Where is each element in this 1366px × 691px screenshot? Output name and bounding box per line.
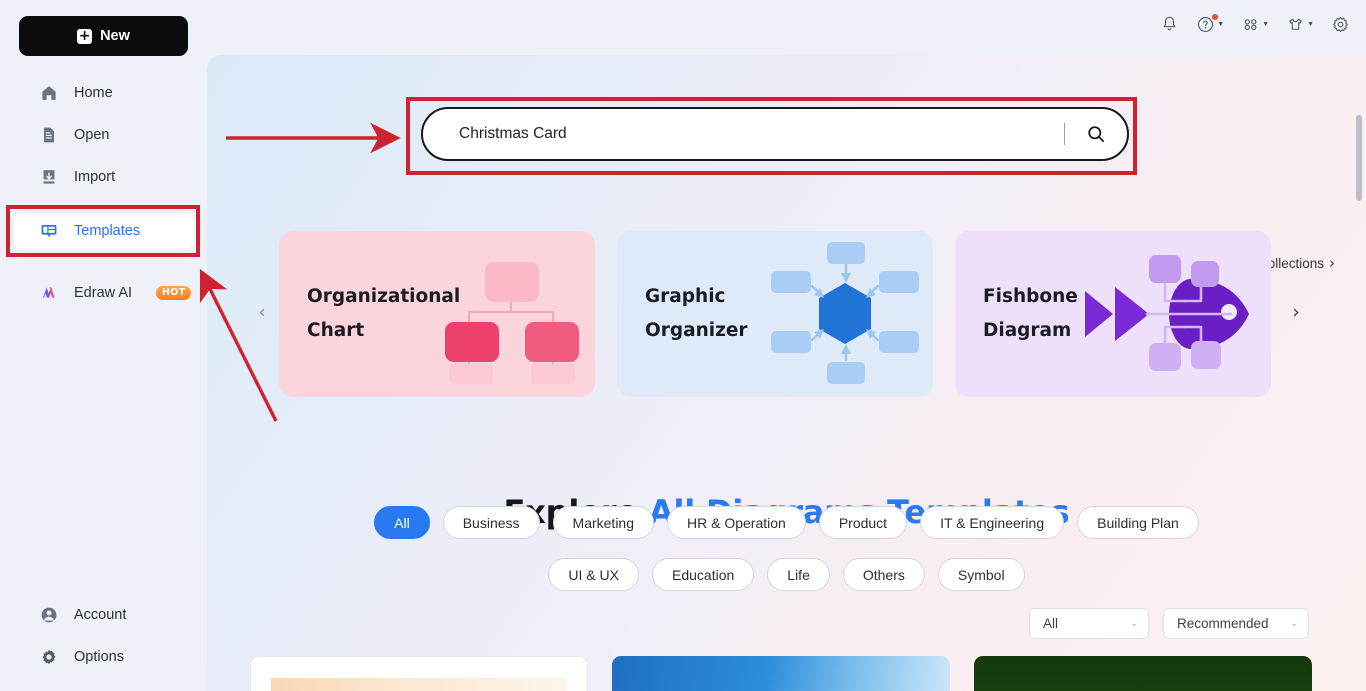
filter-controls: All ⌄ Recommended ⌄	[1029, 608, 1309, 639]
fishbone-art	[1083, 249, 1263, 379]
chevron-down-icon: ▼	[1307, 21, 1314, 28]
sort-filter-value: Recommended	[1177, 616, 1269, 631]
chevron-down-icon: ▼	[1217, 21, 1224, 28]
category-filter-row-2: UI & UX Education Life Others Symbol	[207, 558, 1366, 591]
category-pill-product[interactable]: Product	[819, 506, 907, 539]
template-card[interactable]	[612, 656, 950, 691]
chevron-down-icon: ⌄	[1290, 619, 1298, 629]
sidebar-item-label: Templates	[74, 223, 140, 239]
sidebar-item-label: Import	[74, 169, 115, 185]
category-pill-ui-ux[interactable]: UI & UX	[548, 558, 639, 591]
category-pill-business[interactable]: Business	[443, 506, 540, 539]
apps-grid-button[interactable]: ▼	[1241, 15, 1269, 34]
account-icon	[40, 606, 58, 624]
scrollbar-thumb[interactable]	[1356, 115, 1362, 201]
settings-gear-icon	[1331, 15, 1350, 34]
topbar-icon-group: ▼ ▼ ▼	[1160, 15, 1350, 34]
settings-button[interactable]	[1331, 15, 1350, 34]
topbar: ▼ ▼ ▼	[207, 0, 1366, 55]
theme-button[interactable]: ▼	[1286, 15, 1314, 34]
new-button[interactable]: + New	[19, 16, 188, 56]
org-chart-art	[437, 244, 587, 384]
sidebar-item-home[interactable]: Home	[14, 75, 194, 111]
bell-icon	[1160, 15, 1179, 34]
chevron-down-icon: ▼	[1262, 21, 1269, 28]
plus-icon: +	[77, 29, 92, 44]
category-pill-building-plan[interactable]: Building Plan	[1077, 506, 1199, 539]
templates-icon	[40, 222, 58, 240]
edraw-ai-icon	[40, 284, 58, 302]
import-icon	[40, 168, 58, 186]
apps-grid-icon	[1241, 15, 1260, 34]
category-pill-others[interactable]: Others	[843, 558, 925, 591]
gear-icon	[40, 648, 58, 666]
template-results-grid	[207, 656, 1366, 691]
category-pill-hr-operation[interactable]: HR & Operation	[667, 506, 806, 539]
collection-card-title: Graphic Organizer	[645, 280, 748, 348]
type-filter-select[interactable]: All ⌄	[1029, 608, 1149, 639]
sidebar-item-templates[interactable]: Templates	[14, 213, 194, 249]
template-preview	[271, 678, 567, 691]
search-icon	[1086, 124, 1106, 144]
edraw-templates-page: + New Home Open Import	[0, 0, 1366, 691]
collection-card-fishbone-diagram[interactable]: Fishbone Diagram	[955, 231, 1271, 397]
collections-carousel: Organizational Chart Graphic Organizer	[207, 231, 1366, 416]
new-button-label: New	[100, 28, 130, 44]
category-pill-education[interactable]: Education	[652, 558, 754, 591]
search-button[interactable]	[1065, 109, 1127, 159]
sidebar-item-options[interactable]: Options	[14, 639, 194, 675]
theme-shirt-icon	[1286, 15, 1305, 34]
search-box[interactable]	[421, 107, 1129, 161]
sidebar-item-label: Options	[74, 649, 124, 665]
category-pill-life[interactable]: Life	[767, 558, 830, 591]
home-icon	[40, 84, 58, 102]
category-pill-symbol[interactable]: Symbol	[938, 558, 1025, 591]
chevron-down-icon: ⌄	[1130, 619, 1138, 629]
main-content: All Collections › Organizational Chart	[207, 55, 1366, 691]
template-card[interactable]	[250, 656, 588, 691]
category-pill-it-engineering[interactable]: IT & Engineering	[920, 506, 1064, 539]
sidebar-item-label: Open	[74, 127, 109, 143]
notification-dot	[1212, 14, 1218, 20]
search-input[interactable]	[423, 125, 1064, 143]
open-file-icon	[40, 126, 58, 144]
graphic-organizer-art	[765, 239, 925, 389]
sidebar-item-edraw-ai[interactable]: Edraw AI HOT	[14, 275, 194, 311]
notification-bell-button[interactable]	[1160, 15, 1179, 34]
carousel-next-button[interactable]: ›	[1283, 299, 1309, 325]
help-button[interactable]: ▼	[1196, 15, 1224, 34]
hot-badge: HOT	[156, 286, 191, 301]
collection-card-organizational-chart[interactable]: Organizational Chart	[279, 231, 595, 397]
type-filter-value: All	[1043, 616, 1058, 631]
sidebar-item-account[interactable]: Account	[14, 597, 194, 633]
category-pill-marketing[interactable]: Marketing	[553, 506, 654, 539]
sidebar-item-label: Edraw AI	[74, 285, 132, 301]
collection-card-title: Fishbone Diagram	[983, 280, 1078, 348]
category-filter-row-1: All Business Marketing HR & Operation Pr…	[207, 506, 1366, 539]
template-card[interactable]	[974, 656, 1312, 691]
sidebar-item-label: Account	[74, 607, 126, 623]
sort-filter-select[interactable]: Recommended ⌄	[1163, 608, 1309, 639]
sidebar: + New Home Open Import	[0, 0, 207, 691]
sidebar-item-import[interactable]: Import	[14, 159, 194, 195]
carousel-prev-button[interactable]: ‹	[249, 299, 275, 325]
collection-card-graphic-organizer[interactable]: Graphic Organizer	[617, 231, 933, 397]
sidebar-item-label: Home	[74, 85, 113, 101]
sidebar-item-open[interactable]: Open	[14, 117, 194, 153]
category-pill-all[interactable]: All	[374, 506, 430, 539]
